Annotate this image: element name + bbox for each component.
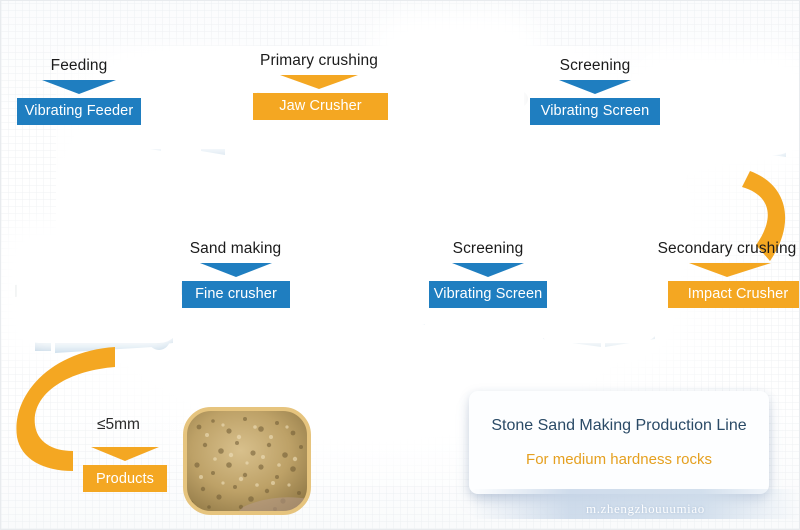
- machine-sand-making: Ⓗ: [7, 229, 193, 354]
- step-label-products[interactable]: Products: [83, 465, 167, 492]
- step-label-text: Vibrating Screen: [541, 103, 650, 119]
- step-label-text: Products: [96, 471, 154, 487]
- sand-pile-icon: [183, 407, 311, 515]
- step-feeding: Feeding Vibrating Feeder: [17, 58, 141, 125]
- step-label-vibrating-feeder[interactable]: Vibrating Feeder: [17, 98, 141, 125]
- product-sand-photo: [183, 407, 311, 515]
- watermark-text: m.zhengzhouuumiao: [586, 501, 705, 517]
- production-line-diagram: Ⓗ Feeding Vibrating Feeder Primary crush…: [0, 0, 800, 530]
- down-dart-icon: [280, 74, 358, 90]
- step-label-text: Vibrating Feeder: [25, 103, 134, 119]
- step-caption: Primary crushing: [250, 53, 388, 69]
- machine-jaw-crusher: [384, 27, 532, 159]
- machine-vibrating-screen-1: Ⓗ: [642, 61, 800, 166]
- down-dart-icon: [559, 79, 631, 95]
- step-label-impact-crusher[interactable]: Impact Crusher: [668, 281, 800, 308]
- step-label-jaw-crusher[interactable]: Jaw Crusher: [253, 93, 388, 120]
- machine-vibrating-screen-2: Ⓗ: [287, 241, 447, 337]
- step-sand-making: Sand making Fine crusher: [181, 241, 290, 308]
- step-label-text: Jaw Crusher: [279, 98, 362, 114]
- step-caption: Screening: [429, 241, 547, 257]
- product-size-label: ≤5mm: [97, 416, 140, 434]
- down-dart-icon: [42, 79, 116, 95]
- step-label-vibrating-screen-1[interactable]: Vibrating Screen: [530, 98, 660, 125]
- info-card-subtitle: For medium hardness rocks: [469, 451, 769, 468]
- down-dart-icon: [200, 262, 272, 278]
- step-caption: Secondary crushing: [646, 241, 800, 257]
- down-dart-icon: [91, 446, 159, 462]
- step-label-vibrating-screen-2[interactable]: Vibrating Screen: [429, 281, 547, 308]
- step-secondary-crushing: Secondary crushing Impact Crusher: [646, 241, 800, 308]
- down-dart-icon: [452, 262, 524, 278]
- step-caption: Sand making: [181, 241, 290, 257]
- step-primary-crushing: Primary crushing Jaw Crusher: [250, 53, 388, 120]
- info-card-title: Stone Sand Making Production Line: [469, 417, 769, 435]
- info-card: Stone Sand Making Production Line For me…: [469, 391, 769, 494]
- step-label-text: Impact Crusher: [688, 286, 789, 302]
- step-screening-2: Screening Vibrating Screen: [429, 241, 547, 308]
- step-products: Products: [83, 446, 167, 492]
- down-dart-icon: [683, 262, 771, 278]
- step-caption: Feeding: [17, 58, 141, 74]
- step-screening-1: Screening Vibrating Screen: [530, 58, 660, 125]
- step-caption: Screening: [530, 58, 660, 74]
- step-label-text: Fine crusher: [195, 286, 277, 302]
- step-label-text: Vibrating Screen: [434, 286, 543, 302]
- step-label-fine-crusher[interactable]: Fine crusher: [182, 281, 290, 308]
